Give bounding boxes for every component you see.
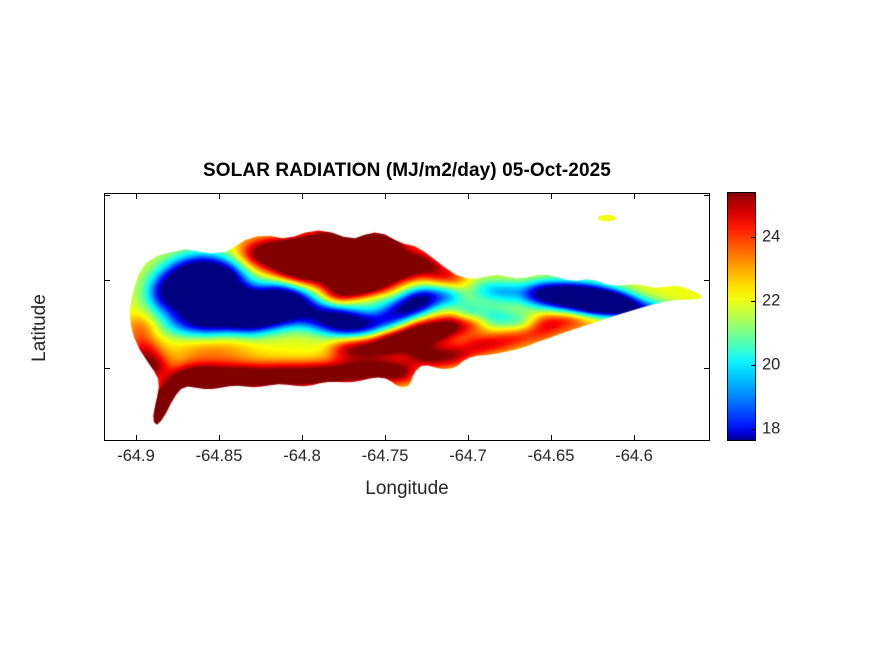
colorbar-tick-label: 22 <box>762 292 780 311</box>
x-tick-mark <box>385 435 386 441</box>
x-axis-label: Longitude <box>104 478 710 500</box>
matlab-figure: SOLAR RADIATION (MJ/m2/day) 05-Oct-2025 … <box>0 0 875 656</box>
chart-title: SOLAR RADIATION (MJ/m2/day) 05-Oct-2025 <box>104 160 710 182</box>
y-tick-mark <box>104 368 110 369</box>
y-tick-mark-right <box>704 368 710 369</box>
y-tick-mark-right <box>704 280 710 281</box>
x-tick-label: -64.75 <box>362 447 409 466</box>
x-tick-label: -64.65 <box>528 447 575 466</box>
x-tick-mark-top <box>136 193 137 199</box>
x-tick-mark-top <box>302 193 303 199</box>
x-tick-label: -64.8 <box>283 447 321 466</box>
colorbar[interactable] <box>727 192 756 441</box>
x-tick-mark <box>468 435 469 441</box>
y-tick-mark <box>104 195 110 196</box>
x-tick-mark-top <box>634 193 635 199</box>
colorbar-tick-mark <box>751 237 756 238</box>
y-tick-mark-right <box>704 195 710 196</box>
x-tick-label: -64.7 <box>449 447 487 466</box>
x-tick-mark <box>136 435 137 441</box>
x-tick-mark <box>634 435 635 441</box>
x-tick-mark <box>219 435 220 441</box>
colorbar-tick-mark <box>751 429 756 430</box>
x-tick-mark-top <box>385 193 386 199</box>
x-tick-label: -64.85 <box>196 447 243 466</box>
solar-radiation-heatmap <box>105 194 709 440</box>
colorbar-tick-label: 20 <box>762 356 780 375</box>
y-tick-mark <box>104 280 110 281</box>
colorbar-tick-mark <box>751 301 756 302</box>
x-tick-mark-top <box>468 193 469 199</box>
x-tick-label: -64.9 <box>117 447 155 466</box>
map-axes[interactable] <box>104 193 710 441</box>
x-tick-mark <box>302 435 303 441</box>
x-tick-label: -64.6 <box>615 447 653 466</box>
colorbar-tick-label: 24 <box>762 228 780 247</box>
x-tick-mark-top <box>551 193 552 199</box>
colorbar-tick-mark <box>751 365 756 366</box>
y-axis-label: Latitude <box>29 268 51 388</box>
colorbar-tick-label: 18 <box>762 420 780 439</box>
x-tick-mark-top <box>219 193 220 199</box>
x-tick-mark <box>551 435 552 441</box>
